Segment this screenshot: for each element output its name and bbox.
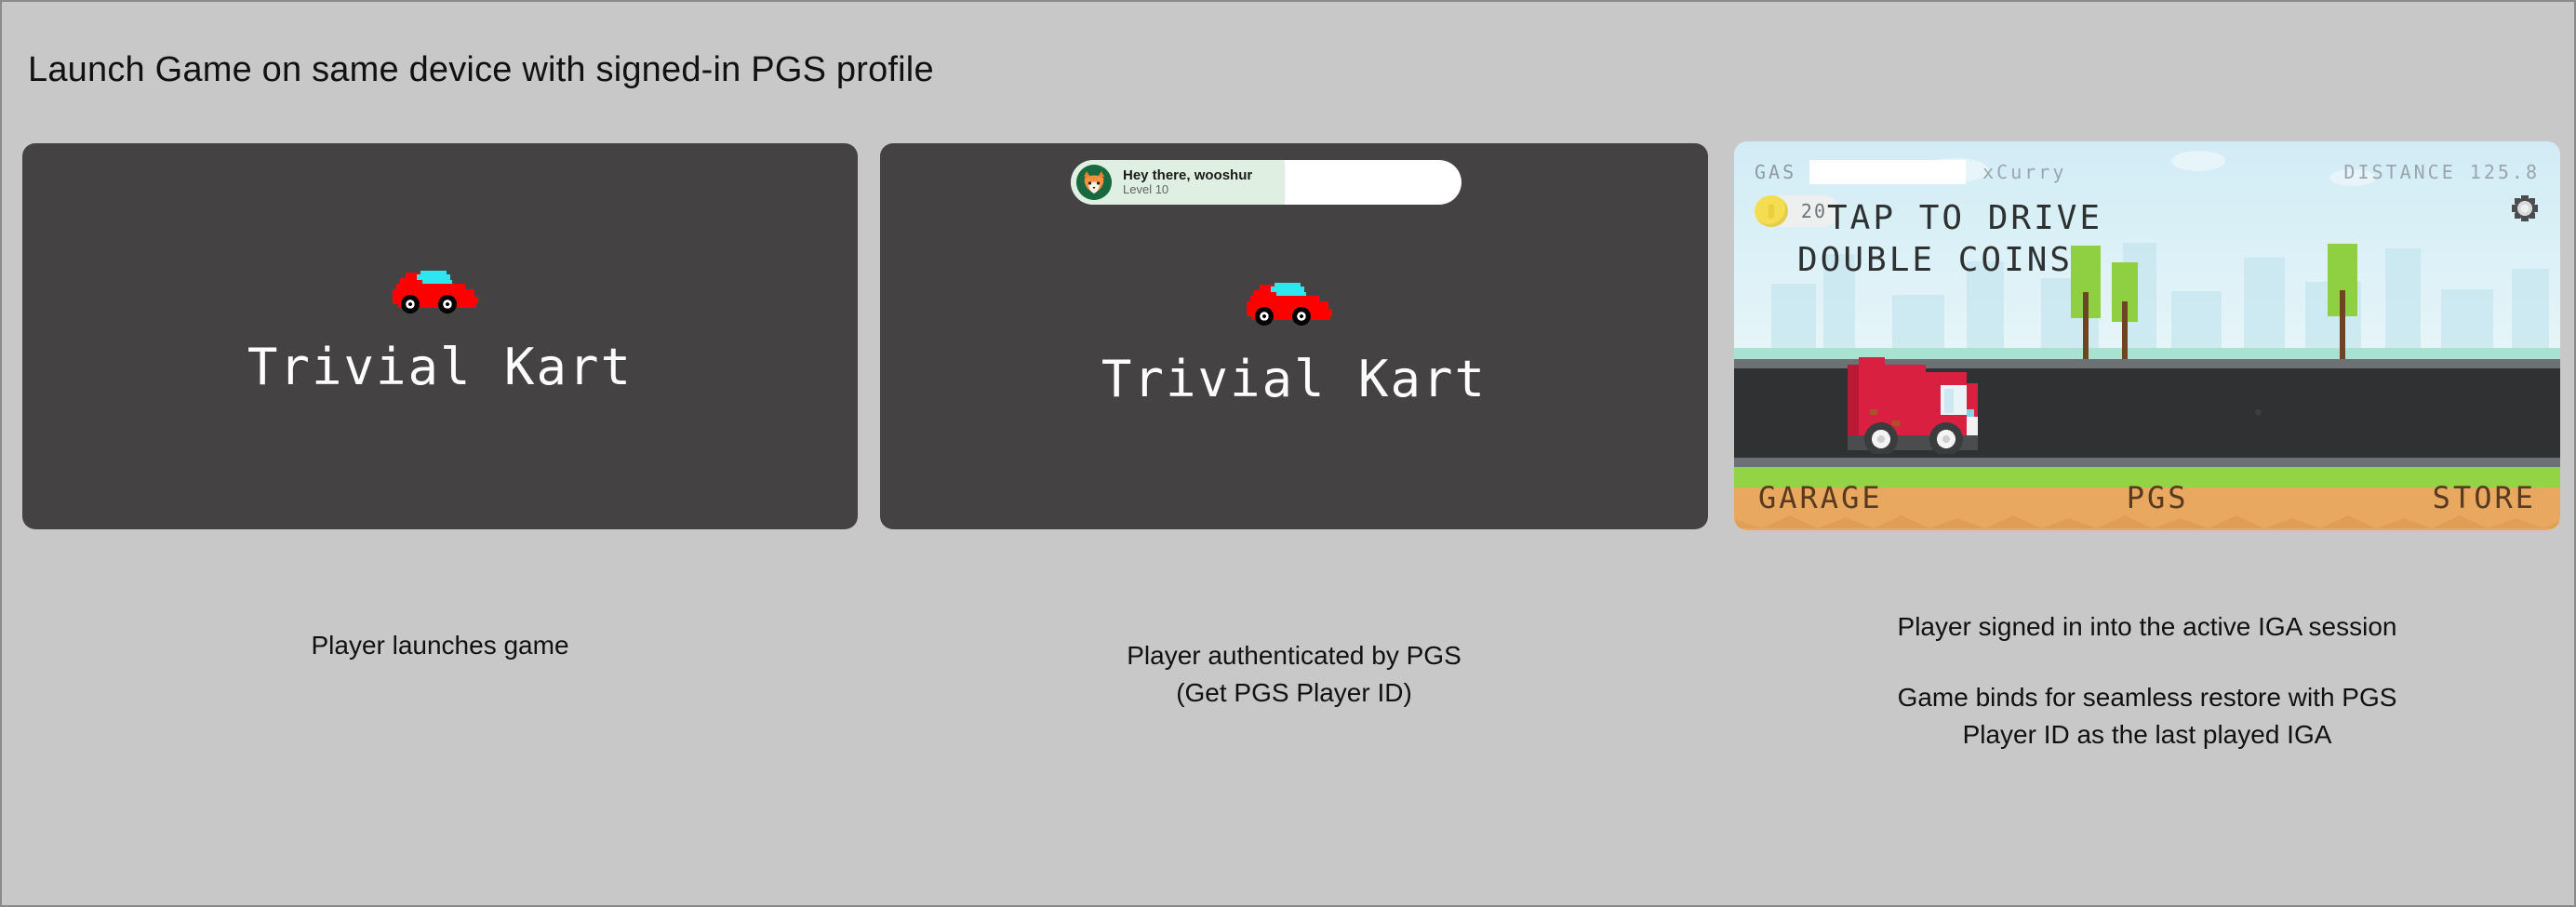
- tap-prompt-line2: DOUBLE COINS: [1797, 239, 2102, 281]
- toast-level: Level 10: [1123, 183, 1252, 197]
- nav-garage-button[interactable]: GARAGE: [1758, 480, 1883, 515]
- panel-splash-launch: Trivial Kart: [22, 143, 858, 529]
- panel-splash-authenticated: Hey there, wooshur Level 10: [880, 143, 1708, 529]
- caption-line: Player authenticated by PGS: [880, 637, 1708, 674]
- coin-badge: 20: [1755, 195, 1788, 227]
- caption-panel-2: Player authenticated by PGS (Get PGS Pla…: [880, 637, 1708, 712]
- gas-label: GAS: [1755, 161, 1796, 183]
- tree-icon: [2112, 262, 2138, 359]
- toast-greeting: Hey there, wooshur: [1123, 167, 1252, 183]
- game-title: Trivial Kart: [247, 338, 633, 396]
- caption-spacer: [1734, 646, 2560, 679]
- caption-panel-1: Player launches game: [22, 627, 858, 664]
- caption-line: Player ID as the last played IGA: [1734, 716, 2560, 754]
- tap-prompt[interactable]: TAP TO DRIVE DOUBLE COINS: [1827, 197, 2102, 281]
- nav-store-button[interactable]: STORE: [2433, 480, 2536, 515]
- red-truck-icon: [1844, 353, 2013, 454]
- nav-pgs-button[interactable]: PGS: [2127, 480, 2189, 515]
- hud-top-row: GAS xCurry DISTANCE 125.8: [1755, 158, 2540, 186]
- game-bottom-nav: GARAGE PGS STORE: [1734, 476, 2560, 519]
- caption-line: (Get PGS Player ID): [880, 674, 1708, 712]
- pixel-car-icon: [1239, 272, 1349, 329]
- splash-content: Trivial Kart: [880, 272, 1708, 408]
- caption-line: Player signed in into the active IGA ses…: [1734, 608, 2560, 646]
- toast-text-block: Hey there, wooshur Level 10: [1123, 167, 1252, 197]
- gear-icon[interactable]: [2510, 193, 2540, 223]
- page-title: Launch Game on same device with signed-i…: [28, 50, 934, 90]
- fox-avatar-icon: [1076, 165, 1112, 200]
- caption-panel-3: Player signed in into the active IGA ses…: [1734, 608, 2560, 753]
- gas-meter: [1809, 160, 1966, 184]
- tap-prompt-line1: TAP TO DRIVE: [1827, 199, 2102, 237]
- panel-game-session: GAS xCurry DISTANCE 125.8 20: [1734, 141, 2560, 530]
- fox-avatar-svg: [1076, 165, 1112, 200]
- tree-icon: [2328, 244, 2357, 359]
- caption-line: Game binds for seamless restore with PGS: [1734, 679, 2560, 716]
- pgs-signin-toast[interactable]: Hey there, wooshur Level 10: [1071, 160, 1462, 205]
- coin-count: 20: [1801, 200, 1827, 222]
- coin-icon: [1755, 195, 1788, 227]
- road-edge-bottom: [1734, 458, 2560, 467]
- diagram-canvas: Launch Game on same device with signed-i…: [2, 2, 2574, 905]
- game-title: Trivial Kart: [1101, 350, 1487, 408]
- caption-line: Player launches game: [311, 631, 568, 660]
- game-scene: GAS xCurry DISTANCE 125.8 20: [1734, 141, 2560, 530]
- splash-content: Trivial Kart: [22, 260, 858, 396]
- pixel-car-icon: [385, 260, 495, 317]
- distance-readout: DISTANCE 125.8: [2343, 161, 2540, 183]
- player-username: xCurry: [1982, 161, 2066, 183]
